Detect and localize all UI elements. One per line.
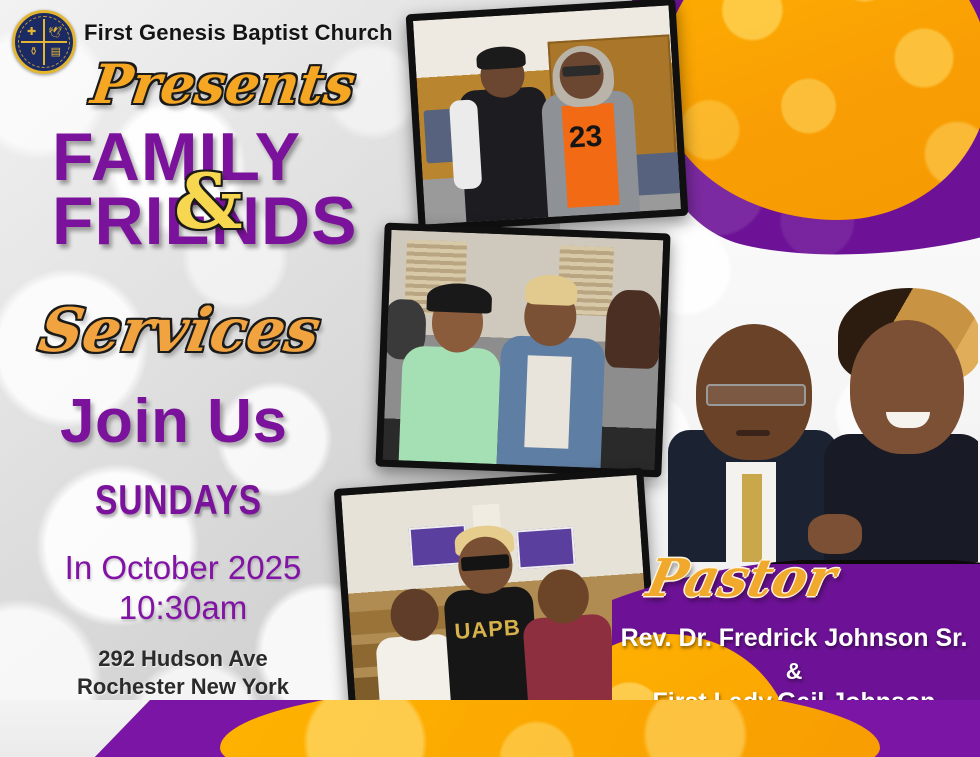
pastor-names-ampersand: & bbox=[608, 656, 980, 687]
cross-icon: ✚ bbox=[27, 27, 36, 38]
church-address: 292 Hudson Ave Rochester New York bbox=[38, 645, 328, 700]
photo-2-woman1-shirt bbox=[399, 345, 501, 464]
bible-icon: ▤ bbox=[51, 47, 61, 58]
photo-2-content bbox=[383, 230, 664, 470]
photo-2-woman2-hair bbox=[525, 274, 578, 306]
service-date: In October 2025 bbox=[38, 548, 328, 588]
bottom-purple-band bbox=[90, 700, 980, 757]
dove-icon: 🕊 bbox=[48, 28, 62, 39]
pastor-couple-portrait bbox=[648, 262, 978, 562]
photo-1-jersey-number: 23 bbox=[568, 120, 603, 156]
presents-script: Presents bbox=[88, 52, 360, 116]
photo-1-content: 23 bbox=[413, 5, 681, 224]
bottom-orange-bokeh bbox=[220, 700, 880, 757]
service-time: 10:30am bbox=[38, 588, 328, 628]
photo-3-content: UAPB bbox=[341, 475, 653, 729]
pastor-glasses bbox=[706, 384, 806, 406]
join-us-heading: Join Us bbox=[60, 386, 287, 457]
services-script: Services bbox=[34, 296, 326, 366]
address-street: 292 Hudson Ave bbox=[38, 645, 328, 673]
seal-divider-horizontal bbox=[21, 41, 67, 43]
pastor-label-script: Pastor bbox=[642, 548, 842, 609]
first-lady-face bbox=[850, 320, 964, 454]
pastor-name: Rev. Dr. Fredrick Johnson Sr. bbox=[608, 622, 980, 656]
church-name: First Genesis Baptist Church bbox=[84, 20, 393, 46]
photo-3-screen-right bbox=[516, 526, 576, 569]
event-title: FAMILY FRIENDS & bbox=[52, 126, 412, 254]
service-date-time: In October 2025 10:30am bbox=[38, 548, 328, 629]
photo-2-woman2-shirt bbox=[525, 355, 572, 449]
church-seal-icon: ✚ 🕊 ⚱ ▤ bbox=[12, 10, 76, 74]
photo-3-shirt-text: UAPB bbox=[454, 614, 522, 645]
photo-1-man-sleeve bbox=[449, 99, 483, 190]
chalice-icon: ⚱ bbox=[29, 47, 38, 58]
photo-card-fellowship-hall: 23 bbox=[406, 0, 689, 232]
service-day: SUNDAYS bbox=[95, 476, 262, 524]
pastor-mouth bbox=[736, 430, 770, 436]
church-flyer: ✚ 🕊 ⚱ ▤ First Genesis Baptist Church Pre… bbox=[0, 0, 980, 757]
address-city-state: Rochester New York bbox=[38, 673, 328, 701]
title-ampersand: & bbox=[174, 164, 243, 240]
photo-card-table-friends bbox=[375, 223, 670, 478]
